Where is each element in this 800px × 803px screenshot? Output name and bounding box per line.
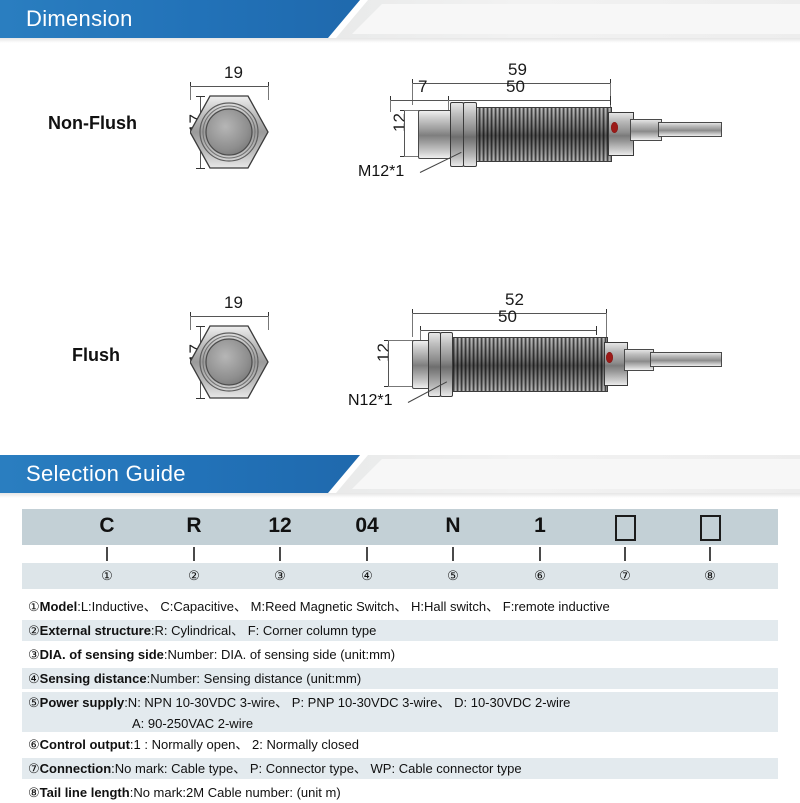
row-label: DIA. of sensing side [40,647,164,662]
sensor-threaded-barrel [466,107,612,162]
row-value: :N: NPN 10-30VDC 3-wire、 P: PNP 10-30VDC… [124,695,570,710]
dimension-section-banner: Dimension [0,0,800,38]
row-index-mark: ① [28,599,40,614]
code-stem-tick [366,547,368,561]
flush-thread-label: N12*1 [348,392,392,410]
index-number-cell: ⑥ [515,568,565,584]
flush-view-label: Flush [72,345,120,366]
model-code-cell: N [423,514,483,538]
row-value: :L:Inductive、 C:Capacitive、 M:Reed Magne… [77,599,609,614]
index-number-band [22,563,778,589]
index-number-cell: ⑦ [600,568,650,584]
code-stem-tick [279,547,281,561]
flush-body-length-value: 50 [498,307,517,327]
selection-guide-row: ④Sensing distance:Number: Sensing distan… [22,668,778,689]
row-label: Sensing distance [40,671,147,686]
non-flush-front-length-value: 7 [418,77,427,97]
ext-line [448,100,449,110]
non-flush-diameter-value: 12 [390,113,410,132]
row-value: :Number: DIA. of sensing side (unit:mm) [164,647,395,662]
code-stem-tick [539,547,541,561]
dim-line-50 [448,100,610,101]
model-code-cell: C [77,514,137,538]
model-code-cell: R [164,514,224,538]
banner-shadow [0,38,800,43]
model-code-cell: 1 [510,514,570,538]
row-index-mark: ⑧ [28,785,40,800]
row-value-continuation: A: 90-250VAC 2-wire [22,717,778,730]
row-label: Control output [40,737,130,752]
sensor-cable [650,352,722,367]
row-index-mark: ⑥ [28,737,40,752]
model-code-blank-box [615,515,636,541]
row-index-mark: ④ [28,671,40,686]
sensor-hex-nut-2 [463,102,477,167]
dim-tick [610,96,611,105]
non-flush-end-view-drawing [190,92,274,181]
selection-guide-row: ①Model:L:Inductive、 C:Capacitive、 M:Reed… [22,596,778,617]
ext-line [390,100,391,112]
banner-gray-band-inner [352,4,800,34]
sensor-cable [658,122,722,137]
flush-diameter-value: 12 [374,343,394,362]
banner-gray-band-inner [352,459,800,489]
index-number-cell: ⑤ [428,568,478,584]
sensor-threaded-barrel [448,337,608,392]
code-stem-tick [624,547,626,561]
sensor-led-indicator [606,352,613,363]
selection-guide-row: ②External structure:R: Cylindrical、 F: C… [22,620,778,641]
code-stem-tick [452,547,454,561]
dim-line-19-f [190,316,268,317]
row-value: :1 : Normally open、 2: Normally closed [130,737,359,752]
code-stem-tick [106,547,108,561]
non-flush-thread-label: M12*1 [358,163,404,181]
row-label: Connection [40,761,112,776]
dim-line-7 [390,100,448,101]
sensor-hex-nut-2 [440,332,453,397]
row-index-mark: ③ [28,647,40,662]
banner-shadow [0,493,800,498]
index-number-cell: ① [82,568,132,584]
index-number-cell: ④ [342,568,392,584]
selection-guide-row: ③DIA. of sensing side:Number: DIA. of se… [22,644,778,665]
index-number-cell: ③ [255,568,305,584]
row-index-mark: ⑤ [28,695,40,710]
model-code-cell: 12 [250,514,310,538]
row-value: :No mark:2M Cable number: (unit m) [130,785,341,800]
selection-guide-section-title: Selection Guide [26,455,186,493]
code-stem-tick [709,547,711,561]
dim-line-19-nf [190,86,268,87]
row-index-mark: ⑦ [28,761,40,776]
dim-tick [596,326,597,335]
selection-guide-row: ⑥Control output:1 : Normally open、 2: No… [22,734,778,755]
dim-line-50-f [420,330,596,331]
code-stem-tick [193,547,195,561]
model-code-cell: 04 [337,514,397,538]
row-value: :Number: Sensing distance (unit:mm) [147,671,362,686]
row-value: :No mark: Cable type、 P: Connector type、… [111,761,521,776]
selection-guide-row: ⑦Connection:No mark: Cable type、 P: Conn… [22,758,778,779]
dimension-section-title: Dimension [26,0,133,38]
flush-end-width-value: 19 [224,293,243,313]
sensor-rear-body [418,110,454,159]
selection-guide-row: ⑤Power supply:N: NPN 10-30VDC 3-wire、 P:… [22,692,778,732]
row-label: Power supply [40,695,125,710]
selection-guide-section-banner: Selection Guide [0,455,800,493]
ext-line [412,83,413,105]
non-flush-end-width-value: 19 [224,63,243,83]
dim-line-12-f [388,340,389,386]
non-flush-view-label: Non-Flush [48,113,137,134]
row-index-mark: ② [28,623,40,638]
flush-end-view-drawing [190,322,274,411]
row-value: :R: Cylindrical、 F: Corner column type [151,623,376,638]
index-number-cell: ② [169,568,219,584]
non-flush-body-length-value: 50 [506,77,525,97]
index-number-cell: ⑧ [685,568,735,584]
dim-line-12 [404,110,405,156]
model-code-blank-box [700,515,721,541]
sensor-led-indicator [611,122,618,133]
ext-line [412,313,413,337]
row-label: Tail line length [40,785,130,800]
row-label: External structure [40,623,151,638]
row-label: Model [40,599,78,614]
